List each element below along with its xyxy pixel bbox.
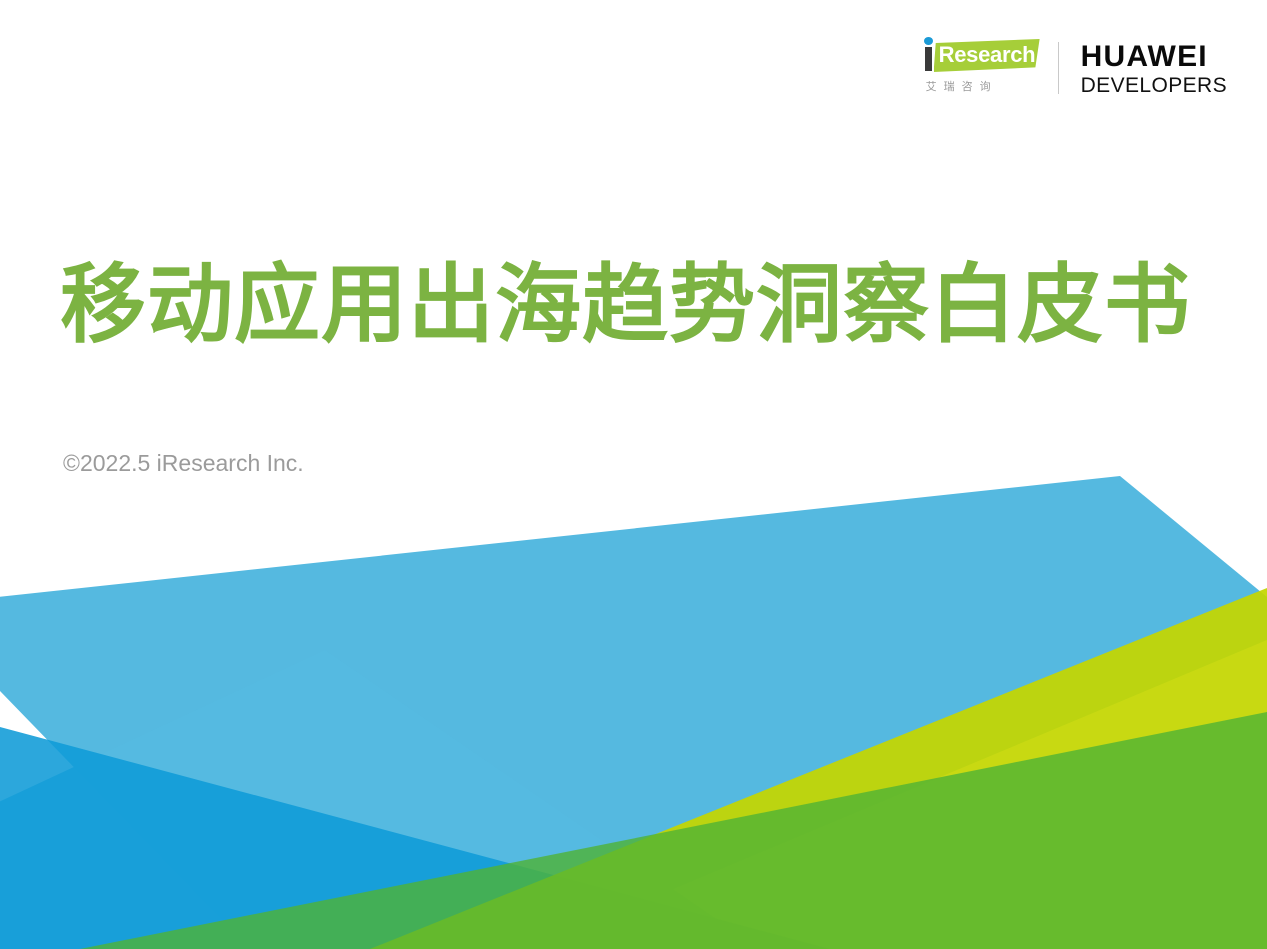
huawei-developers-logo: HUAWEI DEVELOPERS	[1081, 37, 1227, 99]
cover-slide: Research 艾瑞咨询 HUAWEI DEVELOPERS 移动应用出海趋势…	[0, 0, 1267, 949]
blue-band-shape	[0, 476, 1267, 949]
iresearch-chinese-name: 艾瑞咨询	[920, 78, 1040, 94]
blue-peak-shape	[0, 650, 760, 949]
page-title: 移动应用出海趋势洞察白皮书	[60, 255, 1191, 355]
logo-divider	[1058, 42, 1059, 94]
blue-dark-shape	[0, 727, 830, 949]
green-lime-shape	[370, 588, 1267, 949]
iresearch-mark: Research	[920, 37, 1040, 75]
copyright-text: ©2022.5 iResearch Inc.	[63, 450, 304, 477]
iresearch-i-stem	[925, 47, 932, 71]
logo-bar: Research 艾瑞咨询 HUAWEI DEVELOPERS	[920, 34, 1227, 102]
iresearch-i-dot-icon	[924, 37, 933, 45]
huawei-sub-brand: DEVELOPERS	[1081, 74, 1227, 98]
iresearch-wordmark: Research	[939, 44, 1036, 66]
huawei-brand-name: HUAWEI	[1081, 41, 1208, 73]
green-mid-shape	[80, 712, 1267, 949]
iresearch-logo: Research 艾瑞咨询	[920, 37, 1040, 99]
